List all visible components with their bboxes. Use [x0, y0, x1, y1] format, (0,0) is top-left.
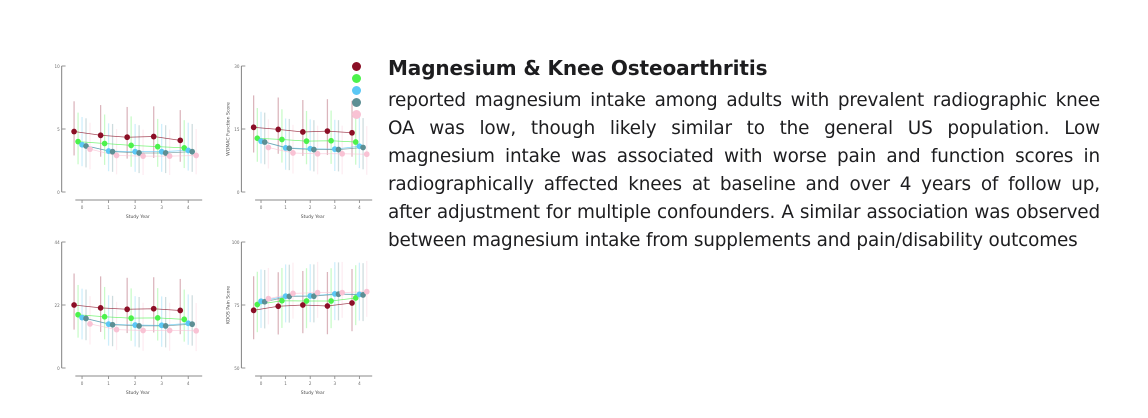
- svg-text:4: 4: [358, 205, 361, 210]
- svg-text:3: 3: [160, 381, 163, 386]
- svg-text:KOOS Pain Score: KOOS Pain Score: [226, 286, 232, 324]
- svg-text:0: 0: [81, 205, 84, 210]
- svg-text:15: 15: [234, 127, 240, 132]
- svg-text:4: 4: [187, 205, 190, 210]
- svg-text:2: 2: [309, 205, 312, 210]
- svg-text:Study Year: Study Year: [301, 390, 325, 396]
- text-panel: Magnesium & Knee Osteoarthritis reported…: [380, 0, 1148, 275]
- svg-text:2: 2: [134, 205, 137, 210]
- svg-text:75: 75: [234, 303, 240, 308]
- legend-swatch-1: [352, 62, 361, 71]
- svg-text:50: 50: [234, 366, 240, 371]
- legend-swatch-3: [352, 86, 361, 95]
- svg-text:0: 0: [237, 190, 240, 195]
- svg-text:1: 1: [284, 381, 287, 386]
- svg-text:Study Year: Study Year: [301, 214, 325, 220]
- chart-womac-total[interactable]: 0224401234Study Year: [48, 234, 210, 398]
- svg-text:Study Year: Study Year: [126, 214, 150, 220]
- figure-with-caption: 051001234Study Year 0153001234Study Year…: [0, 0, 1148, 418]
- svg-text:30: 30: [234, 64, 240, 69]
- svg-text:0: 0: [57, 190, 60, 195]
- svg-text:1: 1: [284, 205, 287, 210]
- svg-text:2: 2: [134, 381, 137, 386]
- article-body-text: reported magnesium intake among adults w…: [388, 87, 1100, 255]
- svg-text:0: 0: [260, 205, 263, 210]
- chart-legend: [352, 62, 366, 119]
- svg-text:100: 100: [232, 240, 240, 245]
- svg-text:3: 3: [333, 381, 336, 386]
- chart-koos-pain[interactable]: 507510001234Study YearKOOS Pain Score: [218, 234, 380, 398]
- svg-text:1: 1: [107, 205, 110, 210]
- legend-swatch-2: [352, 74, 361, 83]
- svg-text:2: 2: [309, 381, 312, 386]
- svg-text:5: 5: [57, 127, 60, 132]
- svg-text:44: 44: [55, 240, 61, 245]
- chart-grid: 051001234Study Year 0153001234Study Year…: [48, 58, 380, 398]
- svg-text:0: 0: [260, 381, 263, 386]
- legend-swatch-5: [352, 110, 361, 119]
- svg-text:4: 4: [187, 381, 190, 386]
- svg-text:Study Year: Study Year: [126, 390, 150, 396]
- figure-panel: 051001234Study Year 0153001234Study Year…: [0, 0, 380, 418]
- legend-swatch-4: [352, 98, 361, 107]
- svg-text:1: 1: [107, 381, 110, 386]
- svg-text:4: 4: [358, 381, 361, 386]
- svg-text:10: 10: [55, 64, 61, 69]
- chart-womac-pain[interactable]: 051001234Study Year: [48, 58, 210, 222]
- svg-text:WOMAC Function Score: WOMAC Function Score: [226, 102, 232, 156]
- page-title: Magnesium & Knee Osteoarthritis: [388, 56, 1100, 81]
- svg-text:3: 3: [333, 205, 336, 210]
- svg-text:22: 22: [55, 303, 61, 308]
- svg-text:0: 0: [57, 366, 60, 371]
- svg-text:3: 3: [160, 205, 163, 210]
- svg-text:0: 0: [81, 381, 84, 386]
